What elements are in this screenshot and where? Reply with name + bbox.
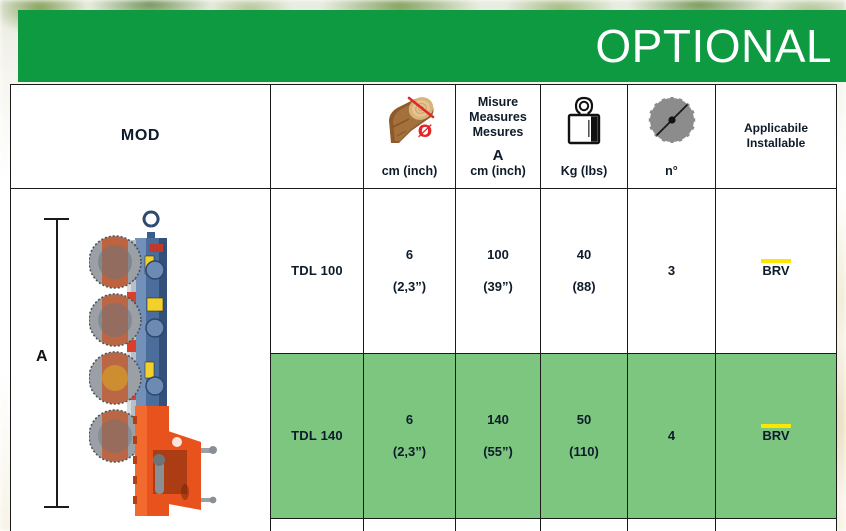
cell-diameter [364,519,456,531]
header-cell-measures: Misure Measures Mesures A cm (inch) [456,85,541,189]
cell-measure: 100 (39”) [456,189,541,354]
header-cell-mod-spacer [271,85,364,189]
header-cell-weight: Kg (lbs) [541,85,628,189]
row-mod-value: TDL 140 [291,428,343,443]
header-diameter-unit: cm (inch) [382,164,438,178]
saw-blade-icon [647,95,697,145]
row-weight-lbs: (88) [572,280,595,294]
row-blades-value: 3 [668,263,675,278]
product-photo-cell: A [11,189,271,531]
cell-diameter: 6 (2,3”) [364,354,456,519]
log-diameter-icon: Ø [381,95,439,145]
cell-blades: 4 [628,354,716,519]
table-header-row: MOD [11,85,837,189]
optional-banner: OPTIONAL [18,10,846,82]
row-diameter-cm: 6 [406,248,413,262]
product-image-tdl-delimber [89,210,229,528]
row-weight-kg: 40 [577,248,591,262]
dimension-indicator-a: A [39,218,73,508]
row-diameter-inch: (2,3”) [393,445,426,459]
header-cell-diameter: Ø cm (inch) [364,85,456,189]
cell-blades [628,519,716,531]
row-weight-kg: 50 [577,413,591,427]
cell-diameter: 6 (2,3”) [364,189,456,354]
cell-applicable [716,519,837,531]
svg-text:Ø: Ø [417,122,431,142]
header-measures-it: Misure [478,95,518,109]
header-cell-applicable: Applicabile Installable [716,85,837,189]
cell-mod [271,519,364,531]
row-applicable-value: BRV [762,427,789,443]
page-root: OPTIONAL MOD [0,0,846,531]
header-cell-blades: n° [628,85,716,189]
header-applicable-en: Installable [744,136,808,151]
row-mod-value: TDL 100 [291,263,343,278]
row-measure-inch: (39”) [483,280,513,294]
cell-mod: TDL 140 [271,354,364,519]
cell-mod: TDL 100 [271,189,364,354]
header-measures-dimension: A [470,149,526,163]
header-blades-unit: n° [665,164,678,178]
row-blades-value: 4 [668,428,675,443]
dimension-label-a: A [33,346,51,368]
weight-block-icon [563,95,605,147]
header-weight-unit: Kg (lbs) [561,164,608,178]
header-mod-label: MOD [121,129,160,143]
header-measures-en: Measures [469,110,527,124]
cell-weight [541,519,628,531]
row-measure-cm: 100 [487,248,509,262]
cell-measure [456,519,541,531]
cell-blades: 3 [628,189,716,354]
header-measures-unit: cm (inch) [470,164,526,178]
header-applicable-it: Applicabile [744,121,808,136]
row-diameter-inch: (2,3”) [393,280,426,294]
cell-weight: 50 (110) [541,354,628,519]
header-measures-fr: Mesures [473,125,524,139]
specs-table: MOD [10,84,837,531]
cell-measure: 140 (55”) [456,354,541,519]
row-weight-lbs: (110) [569,445,599,459]
banner-title: OPTIONAL [595,23,832,69]
table-row: A [11,189,837,354]
row-measure-cm: 140 [487,413,509,427]
header-cell-mod: MOD [11,85,271,189]
cell-applicable: BRV [716,354,837,519]
cell-weight: 40 (88) [541,189,628,354]
cell-applicable: BRV [716,189,837,354]
row-diameter-cm: 6 [406,413,413,427]
row-applicable-value: BRV [762,262,789,278]
row-measure-inch: (55”) [483,445,513,459]
